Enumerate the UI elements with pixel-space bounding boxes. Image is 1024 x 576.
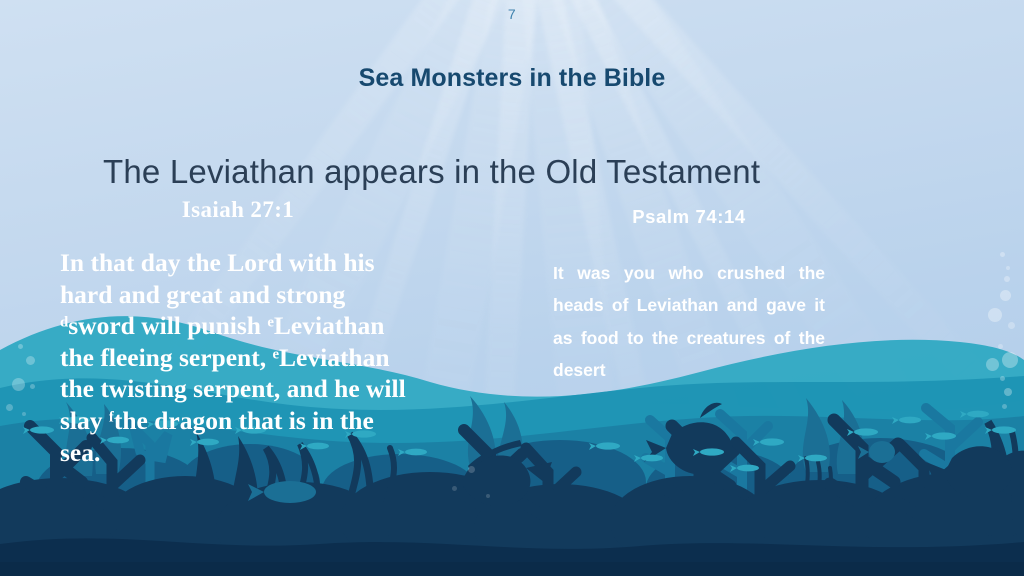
slide-canvas: 7 Sea Monsters in the Bible The Leviatha… <box>0 0 1024 576</box>
scripture-reference-psalm: Psalm 74:14 <box>553 206 825 228</box>
page-title: Sea Monsters in the Bible <box>0 64 1024 93</box>
quote-block-psalm: Psalm 74:14 It was you who crushed the h… <box>553 206 825 387</box>
scripture-text-psalm: It was you who crushed the heads of Levi… <box>553 257 825 387</box>
page-number: 7 <box>0 6 1024 22</box>
seabed-base <box>0 562 1024 576</box>
scripture-reference-isaiah: Isaiah 27:1 <box>60 197 416 223</box>
bubble <box>1000 252 1005 257</box>
scripture-text-isaiah: In that day the Lord with his hard and g… <box>60 247 416 468</box>
quote-block-isaiah: Isaiah 27:1 In that day the Lord with hi… <box>60 197 416 468</box>
bubble <box>1006 266 1010 270</box>
slide-subtitle: The Leviathan appears in the Old Testame… <box>103 153 933 191</box>
